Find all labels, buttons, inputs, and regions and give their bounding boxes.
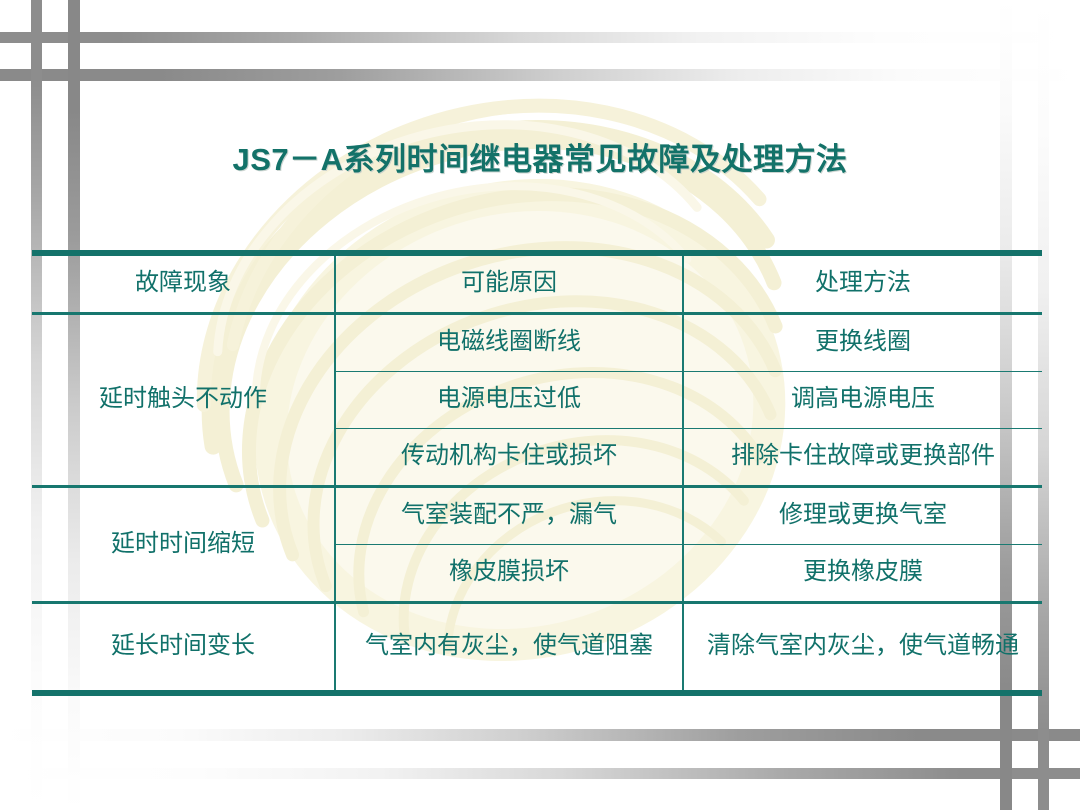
fault-remedy-cell: 修理或更换气室 <box>683 487 1042 545</box>
fault-phenomenon-cell: 延时触头不动作 <box>32 314 335 487</box>
fault-phenomenon-cell: 延长时间变长 <box>32 603 335 694</box>
column-header-remedy: 处理方法 <box>683 253 1042 314</box>
fault-cause-cell: 气室装配不严，漏气 <box>335 487 683 545</box>
fault-remedy-cell: 调高电源电压 <box>683 372 1042 429</box>
fault-remedy-cell: 更换橡皮膜 <box>683 545 1042 603</box>
frame-bar-bottom-outer <box>0 768 1080 779</box>
table-row: 延长时间变长 气室内有灰尘，使气道阻塞 清除气室内灰尘，使气道畅通 <box>32 603 1042 694</box>
slide-canvas: JS7－A系列时间继电器常见故障及处理方法 故障现象 可能原因 处理方法 延时触… <box>0 0 1080 810</box>
frame-bar-top-outer <box>0 32 1080 43</box>
page-title: JS7－A系列时间继电器常见故障及处理方法 <box>0 134 1080 179</box>
frame-bar-bottom-inner <box>0 729 1080 741</box>
fault-phenomenon-cell: 延时时间缩短 <box>32 487 335 603</box>
fault-cause-cell: 电源电压过低 <box>335 372 683 429</box>
column-header-phenomenon: 故障现象 <box>32 253 335 314</box>
table-row: 延时触头不动作 电磁线圈断线 更换线圈 <box>32 314 1042 372</box>
fault-cause-cell: 电磁线圈断线 <box>335 314 683 372</box>
fault-remedy-cell: 排除卡住故障或更换部件 <box>683 429 1042 487</box>
column-header-cause: 可能原因 <box>335 253 683 314</box>
table-header-row: 故障现象 可能原因 处理方法 <box>32 253 1042 314</box>
table-row: 延时时间缩短 气室装配不严，漏气 修理或更换气室 <box>32 487 1042 545</box>
fault-remedy-cell: 清除气室内灰尘，使气道畅通 <box>683 603 1042 694</box>
fault-cause-cell: 气室内有灰尘，使气道阻塞 <box>335 603 683 694</box>
fault-remedy-cell: 更换线圈 <box>683 314 1042 372</box>
frame-bar-top-inner <box>0 69 1080 81</box>
fault-cause-cell: 传动机构卡住或损坏 <box>335 429 683 487</box>
fault-handling-table: 故障现象 可能原因 处理方法 延时触头不动作 电磁线圈断线 更换线圈 电源电压过… <box>32 250 1042 696</box>
fault-cause-cell: 橡皮膜损坏 <box>335 545 683 603</box>
